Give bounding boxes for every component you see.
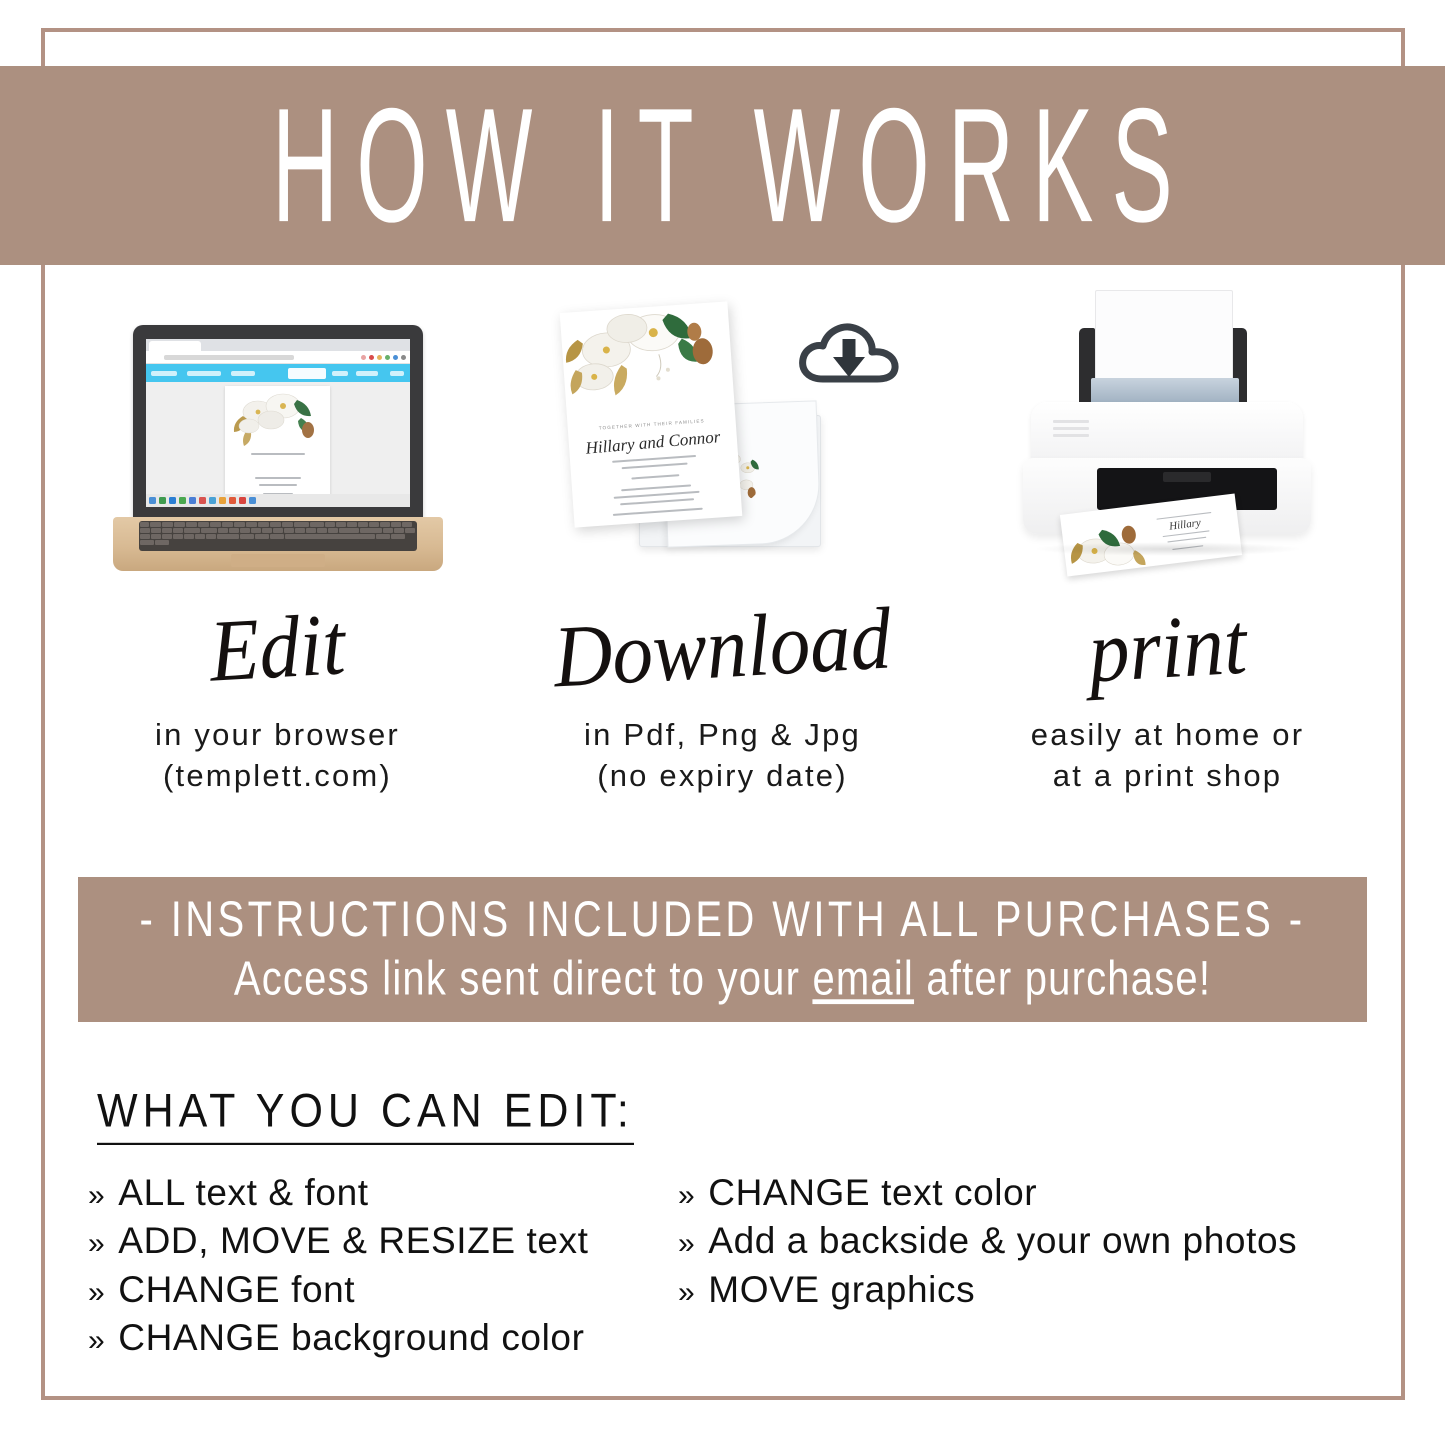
bullet-icon: » — [88, 1227, 105, 1261]
caption-line-2: at a print shop — [1031, 756, 1304, 797]
caption-line-2: (no expiry date) — [584, 756, 861, 797]
cloud-download-icon — [797, 313, 901, 399]
edit-lists: » ALL text & font » ADD, MOVE & RESIZE t… — [88, 1172, 1398, 1359]
editor-canvas — [146, 382, 410, 494]
browser-tab — [149, 341, 201, 351]
title-banner: HOW IT WORKS — [0, 66, 1445, 265]
bullet-icon: » — [678, 1179, 695, 1213]
caption-line-2: (templett.com) — [155, 756, 400, 797]
list-item-label: CHANGE font — [118, 1269, 355, 1310]
invitation-names: Hillary and Connor — [582, 427, 723, 459]
list-item-label: Add a backside & your own photos — [708, 1220, 1297, 1261]
list-item: » ALL text & font — [88, 1172, 678, 1213]
caption-line-1: in Pdf, Png & Jpg — [584, 715, 861, 756]
edit-section-heading: WHAT YOU CAN EDIT: — [97, 1085, 634, 1146]
laptop-illustration — [55, 275, 500, 575]
step-print: Hillary print easily at home or at a pri… — [945, 275, 1390, 820]
laptop-base — [113, 517, 443, 571]
step-download: H|C — [500, 275, 945, 820]
list-item: » CHANGE background color — [88, 1317, 678, 1358]
step-label-print: print — [1086, 585, 1249, 714]
bullet-icon: » — [678, 1227, 695, 1261]
download-illustration: H|C — [500, 275, 945, 575]
list-item: » MOVE graphics — [678, 1269, 1398, 1310]
bullet-icon: » — [678, 1276, 695, 1310]
email-link[interactable]: email — [812, 952, 914, 1005]
browser-tabbar — [146, 339, 410, 351]
laptop-graphic — [113, 325, 443, 575]
caption-line-1: in your browser — [155, 715, 400, 756]
laptop-lid — [133, 325, 423, 521]
list-item: » CHANGE text color — [678, 1172, 1398, 1213]
printer-shadow — [1033, 542, 1303, 556]
envelope-graphic: H|C — [553, 295, 893, 575]
instructions-banner: - INSTRUCTIONS INCLUDED WITH ALL PURCHAS… — [78, 877, 1367, 1022]
caption-line-1: easily at home or — [1031, 715, 1304, 756]
step-caption-download: in Pdf, Png & Jpg (no expiry date) — [584, 715, 861, 797]
bullet-icon: » — [88, 1179, 105, 1213]
laptop-screen — [146, 339, 410, 507]
list-item-label: MOVE graphics — [708, 1269, 975, 1310]
step-label-edit: Edit — [207, 585, 348, 713]
os-taskbar — [146, 494, 410, 507]
bullet-icon: » — [88, 1324, 105, 1358]
invitation-card: TOGETHER WITH THEIR FAMILIES Hillary and… — [559, 301, 742, 527]
browser-url-text — [164, 355, 294, 360]
invitation-preview — [225, 386, 330, 498]
list-item-label: CHANGE text color — [708, 1172, 1037, 1213]
list-item: » CHANGE font — [88, 1269, 678, 1310]
printer-control-buttons[interactable] — [1053, 420, 1089, 444]
step-edit: Edit in your browser (templett.com) — [55, 275, 500, 820]
subline-after: after purchase! — [914, 952, 1211, 1005]
edit-list-left: » ALL text & font » ADD, MOVE & RESIZE t… — [88, 1172, 678, 1359]
laptop-keyboard — [139, 521, 417, 551]
printer-top-body — [1031, 402, 1303, 464]
printer-graphic: Hillary — [1003, 290, 1333, 575]
browser-extension-icons — [361, 355, 406, 360]
subline-before: Access link sent direct to your — [234, 952, 813, 1005]
step-caption-edit: in your browser (templett.com) — [155, 715, 400, 797]
list-item: » ADD, MOVE & RESIZE text — [88, 1220, 678, 1261]
svg-text:Hillary: Hillary — [1167, 517, 1201, 533]
list-item-label: ADD, MOVE & RESIZE text — [118, 1220, 588, 1261]
list-item-label: ALL text & font — [118, 1172, 368, 1213]
instructions-headline: - INSTRUCTIONS INCLUDED WITH ALL PURCHAS… — [139, 892, 1305, 948]
step-label-download: Download — [551, 579, 894, 718]
page-title: HOW IT WORKS — [254, 84, 1191, 246]
list-item-label: CHANGE background color — [118, 1317, 584, 1358]
floral-header-icon — [559, 301, 734, 422]
printer-slot-tab — [1163, 472, 1211, 482]
instructions-subline: Access link sent direct to your email af… — [234, 952, 1211, 1006]
browser-urlbar — [146, 351, 410, 364]
step-caption-print: easily at home or at a print shop — [1031, 715, 1304, 797]
edit-list-right: » CHANGE text color » Add a backside & y… — [678, 1172, 1398, 1359]
steps-row: Edit in your browser (templett.com) — [55, 275, 1390, 820]
list-item: » Add a backside & your own photos — [678, 1220, 1398, 1261]
laptop-trackpad — [231, 554, 325, 567]
poster-page: HOW IT WORKS — [0, 0, 1445, 1445]
editor-toolbar — [146, 364, 410, 383]
bullet-icon: » — [88, 1276, 105, 1310]
printer-illustration: Hillary — [945, 275, 1390, 575]
